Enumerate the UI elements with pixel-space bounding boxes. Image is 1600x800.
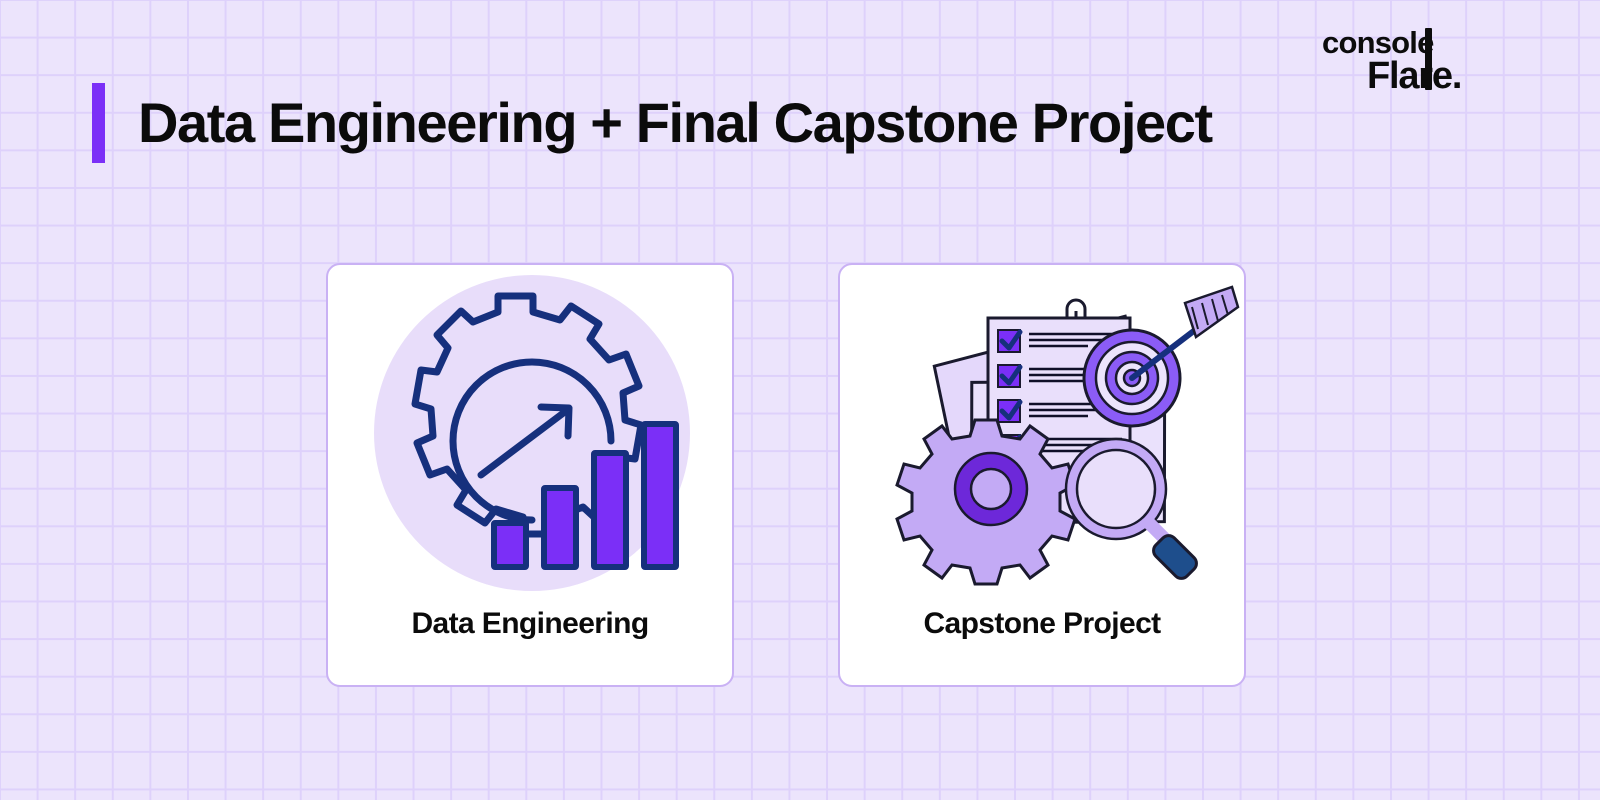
magnifier-icon	[1066, 439, 1200, 582]
topic-card-data-engineering[interactable]: Data Engineering	[326, 263, 734, 687]
checklist-target-arrow-magnifier-gear-icon	[840, 273, 1248, 603]
title-accent-bar	[92, 83, 105, 163]
slide-canvas: console Flare. Data Engineering + Final …	[0, 0, 1600, 800]
card-label: Capstone Project	[840, 607, 1244, 641]
console-flare-logo[interactable]: console Flare.	[1322, 26, 1522, 98]
logo-line2-text: Flare.	[1367, 56, 1461, 96]
topic-card-capstone-project[interactable]: Capstone Project	[838, 263, 1246, 687]
page-title: Data Engineering + Final Capstone Projec…	[138, 88, 1212, 158]
card-label: Data Engineering	[328, 607, 732, 641]
gear-speedometer-bar-chart-icon	[328, 273, 736, 603]
